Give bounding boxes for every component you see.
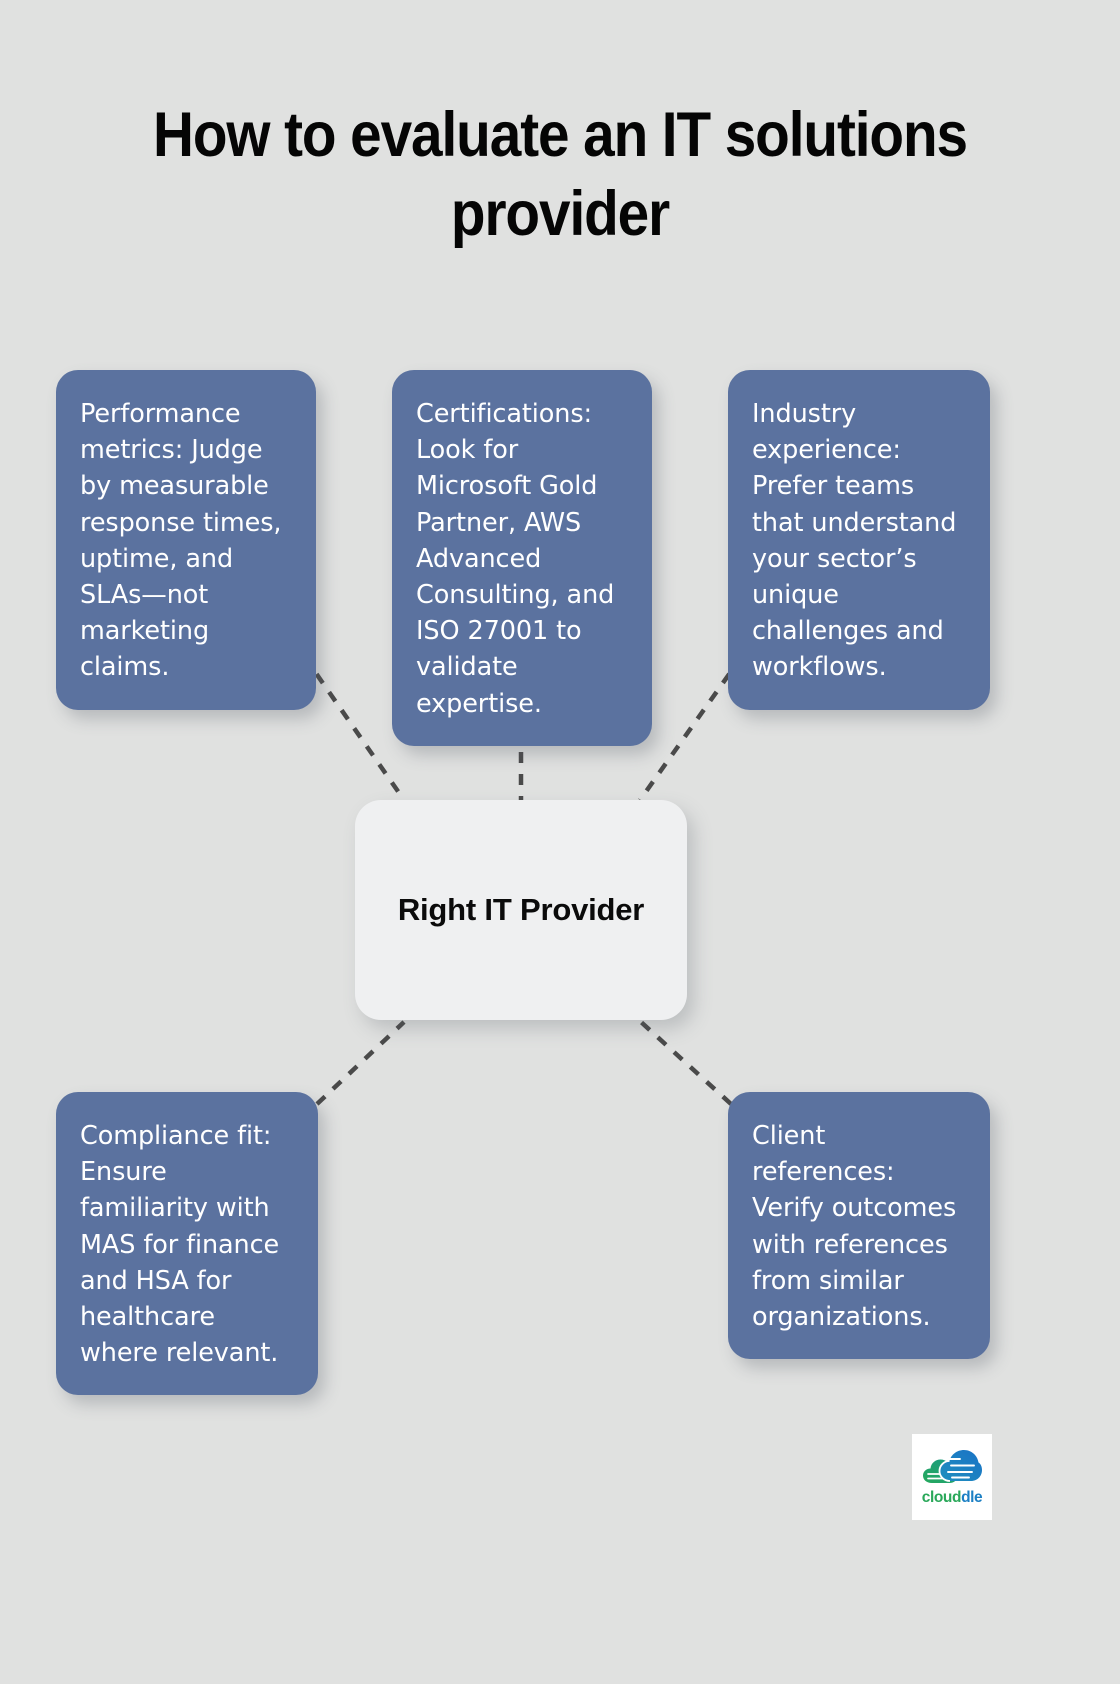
logo-word-dle: dle [961, 1489, 982, 1506]
connector-compliance [317, 1022, 404, 1104]
center-node-label: Right IT Provider [398, 892, 644, 928]
card-certifications[interactable]: Certifications: Look for Microsoft Gold … [392, 370, 652, 746]
connector-performance [304, 656, 404, 800]
card-industry-experience-text: Industry experience: Prefer teams that u… [752, 396, 966, 686]
card-certifications-text: Certifications: Look for Microsoft Gold … [416, 396, 628, 722]
page-title: How to evaluate an IT solutions provider [56, 96, 1064, 255]
card-performance-metrics[interactable]: Performance metrics: Judge by measurable… [56, 370, 316, 710]
logo-word-cloud: cloud [922, 1489, 961, 1506]
center-node[interactable]: Right IT Provider [355, 800, 687, 1020]
card-client-references[interactable]: Client references: Verify outcomes with … [728, 1092, 990, 1359]
connector-references [641, 1022, 731, 1104]
connector-industry [640, 656, 742, 800]
card-industry-experience[interactable]: Industry experience: Prefer teams that u… [728, 370, 990, 710]
card-compliance-fit-text: Compliance fit: Ensure familiarity with … [80, 1118, 294, 1371]
cloud-icon [922, 1449, 982, 1485]
card-client-references-text: Client references: Verify outcomes with … [752, 1118, 966, 1335]
card-compliance-fit[interactable]: Compliance fit: Ensure familiarity with … [56, 1092, 318, 1395]
clouddle-logo: clouddle [912, 1434, 992, 1520]
logo-wordmark: clouddle [922, 1487, 983, 1506]
card-performance-metrics-text: Performance metrics: Judge by measurable… [80, 396, 292, 686]
infographic-page: How to evaluate an IT solutions provider… [0, 0, 1120, 1684]
